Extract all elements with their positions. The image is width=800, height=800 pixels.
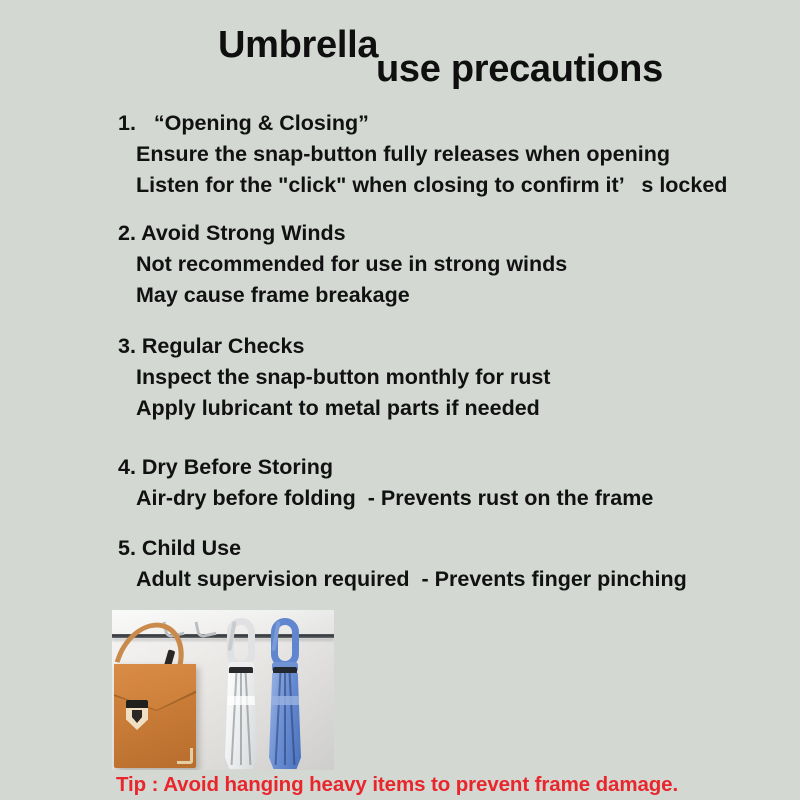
precaution-detail: Listen for the "click" when closing to c…	[0, 170, 800, 201]
umbrella-strap-band	[269, 696, 301, 705]
tip-text: Tip : Avoid hanging heavy items to preve…	[116, 773, 678, 797]
precaution-heading: 4. Dry Before Storing	[0, 452, 800, 483]
precaution-detail: Inspect the snap-button monthly for rust	[0, 362, 800, 393]
precaution-detail: Air-dry before folding - Prevents rust o…	[0, 483, 800, 514]
precaution-item-2: 2. Avoid Strong Winds Not recommended fo…	[0, 218, 800, 311]
umbrella-rib	[284, 673, 286, 765]
white-umbrella	[224, 618, 258, 770]
blue-umbrella	[268, 618, 302, 770]
satchel-corner-guard	[177, 748, 193, 764]
title-secondary: use precautions	[376, 48, 663, 91]
poster-page: Umbrella use precautions 1. “Opening & C…	[0, 0, 800, 800]
spacer	[0, 424, 800, 452]
umbrella-strap-band	[225, 696, 257, 705]
precaution-heading: 3. Regular Checks	[0, 331, 800, 362]
precaution-heading: 5. Child Use	[0, 533, 800, 564]
precaution-detail: May cause frame breakage	[0, 280, 800, 311]
precautions-list: 1. “Opening & Closing” Ensure the snap-b…	[0, 108, 800, 595]
precaution-item-5: 5. Child Use Adult supervision required …	[0, 533, 800, 595]
precaution-heading: 2. Avoid Strong Winds	[0, 218, 800, 249]
product-photo	[112, 610, 334, 770]
spacer	[0, 311, 800, 331]
precaution-detail: Not recommended for use in strong winds	[0, 249, 800, 280]
precaution-detail: Ensure the snap-button fully releases wh…	[0, 139, 800, 170]
umbrella-rib	[240, 673, 242, 765]
precaution-item-3: 3. Regular Checks Inspect the snap-butto…	[0, 331, 800, 424]
spacer	[0, 201, 800, 218]
title-primary: Umbrella	[218, 24, 378, 67]
spacer	[0, 514, 800, 533]
page-title: Umbrella use precautions	[0, 0, 800, 100]
precaution-item-1: 1. “Opening & Closing” Ensure the snap-b…	[0, 108, 800, 201]
precaution-item-4: 4. Dry Before Storing Air-dry before fol…	[0, 452, 800, 514]
precaution-heading: 1. “Opening & Closing”	[0, 108, 800, 139]
leather-satchel	[114, 664, 196, 768]
precaution-detail: Apply lubricant to metal parts if needed	[0, 393, 800, 424]
precaution-detail: Adult supervision required - Prevents fi…	[0, 564, 800, 595]
